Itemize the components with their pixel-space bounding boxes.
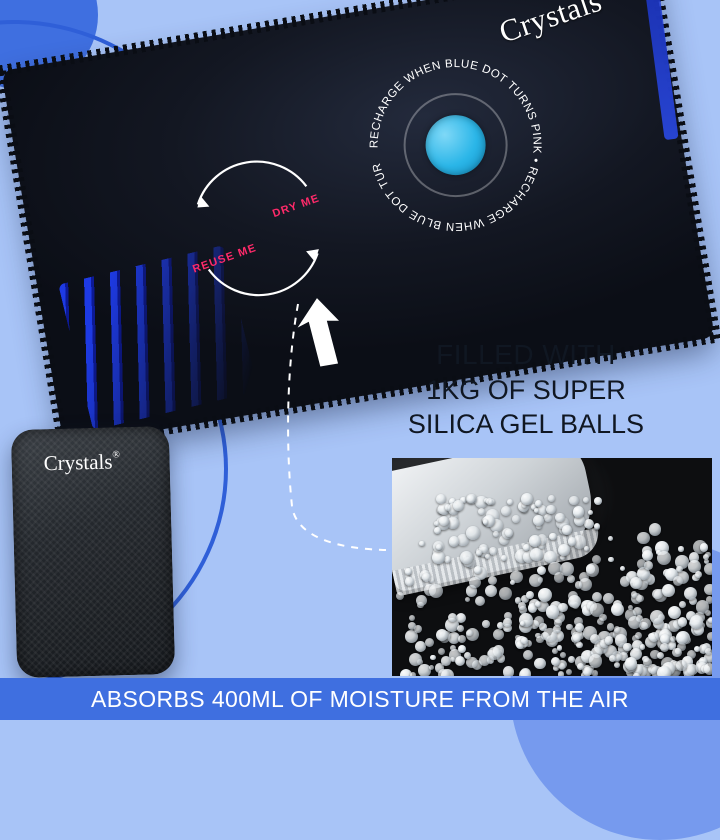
silica-bead [583,667,592,676]
silica-bead [441,656,450,665]
silica-bead [588,510,593,515]
silica-bead [510,580,515,585]
silica-bead [546,505,556,515]
silica-bead [594,497,602,505]
silica-bead [549,533,557,541]
silica-bead [438,669,449,676]
silica-bead [478,508,485,515]
silica-bead [419,541,424,546]
silica-bead [577,663,584,670]
silica-bead [507,499,513,505]
silica-bead [544,514,552,522]
silica-bead [586,563,600,577]
silica-bead [568,656,575,663]
bottom-banner: ABSORBS 400ML OF MOISTURE FROM THE AIR [0,678,720,720]
silica-bead [620,566,625,571]
silica-bead [535,601,541,607]
silica-bead [458,645,466,653]
silica-bead [609,655,616,662]
silica-bead [438,648,445,655]
silica-bead [640,644,645,649]
silica-bead [603,593,614,604]
silica-bead [679,601,686,608]
cycle-arc-top [192,153,306,204]
silica-bead [584,546,589,551]
silica-bead [415,641,426,652]
silica-bead [482,620,489,627]
silica-bead [485,554,490,559]
silica-bead [670,636,676,642]
silica-bead [569,496,578,505]
silica-bead [405,568,411,574]
silica-bead [488,647,500,659]
silica-bead [485,585,497,597]
silica-bead [429,665,434,670]
silica-bead [620,576,630,586]
silica-bead [590,603,604,617]
silica-bead [694,646,700,652]
silica-bead [696,600,709,613]
silica-bead [523,650,533,660]
silica-bead [512,515,520,523]
silica-bead [568,537,577,546]
silica-bead [636,595,644,603]
silica-bead [530,548,544,562]
silica-bead [466,630,472,636]
silica-bead [551,657,560,666]
silica-bead [538,588,552,602]
silica-bead [466,526,480,540]
silica-bead [649,523,661,535]
silica-bead [457,625,464,632]
silica-bead [503,666,515,676]
silica-bead [436,544,442,550]
silica-bead [479,655,490,666]
bottom-banner-text: ABSORBS 400ML OF MOISTURE FROM THE AIR [91,686,629,713]
silica-bead [573,634,581,642]
silica-bead [529,574,542,587]
silica-bead [533,515,544,526]
silica-bead [501,555,507,561]
callout-line-3: SILICA GEL BALLS [350,409,702,441]
silica-bead [592,592,602,602]
silica-bead [657,666,671,676]
silica-bead [704,663,712,675]
silica-bead [503,618,511,626]
silica-bead [650,610,664,624]
silica-bead [475,596,485,606]
silica-bead [637,532,650,545]
silica-bead [537,566,546,575]
silica-bead [678,546,683,551]
silica-bead [700,543,709,552]
silica-bead [566,624,573,631]
silica-bead [554,619,562,627]
silica-bead [605,636,613,644]
silica-bead [493,531,499,537]
silica-bead [704,584,712,596]
mat-brand-name: Crystals [43,449,112,475]
silica-bead [558,544,570,556]
silica-bead [467,495,475,503]
silica-bead [396,592,404,600]
silica-bead [534,658,546,670]
silica-bead [505,529,513,537]
silica-bead [575,581,582,588]
silica-bead [566,669,572,675]
silica-bead [657,551,671,565]
silica-bead [637,559,646,568]
silica-bead [678,617,688,627]
callout-line-1: FILLED WITH [350,338,702,371]
silica-bead [493,629,504,640]
silica-bead [449,536,460,547]
photo-silica-gel-balls [392,458,712,676]
silica-bead [690,615,704,629]
silica-bead [640,618,651,629]
silica-bead [536,636,543,643]
silica-bead [568,595,581,608]
silica-bead [584,519,594,529]
silica-bead [429,584,443,598]
silica-bead [409,615,415,621]
silica-bead [652,589,663,600]
silica-bead [705,648,712,655]
silica-bead [668,606,681,619]
silica-bead [405,577,413,585]
silica-bead [469,577,481,589]
silica-bead [488,576,497,585]
silica-bead [611,603,624,616]
silica-bead [673,576,683,586]
silica-bead [614,626,620,632]
silica-bead [526,591,534,599]
callout-text-block: FILLED WITH 1KG OF SUPER SILICA GEL BALL… [350,338,702,441]
silica-bead [594,523,600,529]
silica-bead [430,655,436,661]
silica-bead [499,587,512,600]
silica-bead [557,645,562,650]
silica-bead [662,584,675,597]
silica-bead [546,605,559,618]
silica-bead [623,643,632,652]
silica-bead [583,497,590,504]
silica-bead [434,527,441,534]
mat-brand-logo: Crystals® [43,449,120,476]
silica-bead [635,632,642,639]
silica-bead [523,544,530,551]
silica-bead [464,652,471,659]
silica-bead [465,597,470,602]
silica-bead [410,672,417,676]
humidity-indicator [396,85,516,205]
silica-bead [614,662,620,668]
silica-bead [704,563,712,575]
silica-bead [608,536,613,541]
silica-bead [554,572,564,582]
silica-bead [589,654,602,667]
silica-bead [633,673,640,676]
silica-bead [489,547,497,555]
silica-bead [548,495,555,502]
silica-bead [501,506,511,516]
silica-bead [529,535,541,547]
pointer-arrow-icon [287,293,358,372]
silica-bead [707,632,712,641]
silica-bead [486,498,493,505]
silica-bead [695,571,702,578]
product-image-anti-slip-mat: Crystals® [11,426,175,678]
silica-bead-cluster [392,458,712,676]
silica-bead [562,525,571,534]
silica-bead [521,637,528,644]
silica-bead [576,642,583,649]
silica-bead [708,617,712,624]
silica-bead [455,656,465,666]
silica-bead [660,643,669,652]
silica-bead [543,628,556,641]
silica-bead [558,603,568,613]
silica-bead [558,671,565,676]
silica-bead [460,551,473,564]
silica-bead [560,652,566,658]
callout-line-2: 1KG OF SUPER [350,375,702,407]
silica-bead [672,648,681,657]
silica-bead [607,623,614,630]
silica-bead [416,595,427,606]
silica-bead [458,635,466,643]
silica-bead [608,557,614,563]
cycle-arrowhead-left [196,195,210,209]
silica-bead [432,551,445,564]
mat-registered-trademark-icon: ® [112,449,120,460]
silica-bead [453,500,464,511]
silica-bead [425,638,434,647]
